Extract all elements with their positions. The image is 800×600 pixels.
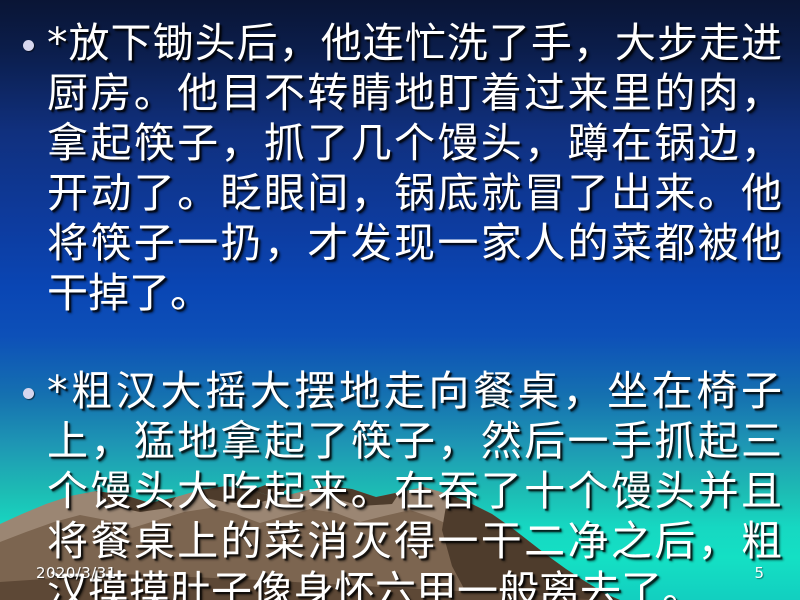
slide-body: *放下锄头后，他连忙洗了手，大步走进厨房。他目不转睛地盯着过来里的肉，拿起筷子，… xyxy=(0,0,800,600)
paragraph-text-2: *粗汉大摇大摆地走向餐桌，坐在椅子上，猛地拿起了筷子，然后一手抓起三个馒头大吃起… xyxy=(47,366,782,600)
footer-date: 2020/3/31 xyxy=(36,564,117,582)
bullet-paragraph-1: *放下锄头后，他连忙洗了手，大步走进厨房。他目不转睛地盯着过来里的肉，拿起筷子，… xyxy=(18,18,782,318)
footer-slide-number: 5 xyxy=(754,564,764,582)
bullet-dot-icon xyxy=(23,40,34,51)
slide-canvas: *放下锄头后，他连忙洗了手，大步走进厨房。他目不转睛地盯着过来里的肉，拿起筷子，… xyxy=(0,0,800,600)
bullet-dot-icon xyxy=(23,388,34,399)
bullet-paragraph-2: *粗汉大摇大摆地走向餐桌，坐在椅子上，猛地拿起了筷子，然后一手抓起三个馒头大吃起… xyxy=(18,366,782,600)
paragraph-text-1: *放下锄头后，他连忙洗了手，大步走进厨房。他目不转睛地盯着过来里的肉，拿起筷子，… xyxy=(47,18,782,318)
